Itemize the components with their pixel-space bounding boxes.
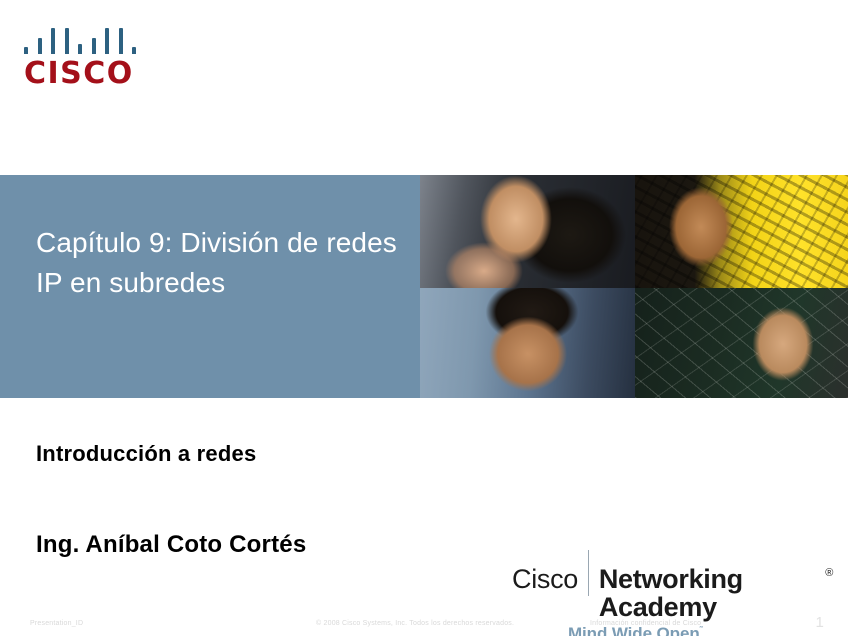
- cisco-bridge-bar-9: [132, 47, 136, 54]
- footer-confidential: Información confidencial de Cisco: [590, 620, 701, 627]
- registered-trademark-mark: ®: [825, 568, 833, 580]
- photo-woman-chalkboard: [635, 288, 848, 398]
- presentation-slide: CISCO Capítulo 9: División de redes IP e…: [0, 0, 848, 636]
- slide-title: Capítulo 9: División de redes IP en subr…: [36, 223, 400, 303]
- cisco-bridge-bar-5: [78, 44, 82, 54]
- photo-man-yellow-wall: [635, 175, 848, 288]
- photo-man-thinking: [420, 175, 635, 288]
- cisco-logo: CISCO: [24, 28, 174, 90]
- footer-presentation-id: Presentation_ID: [30, 620, 83, 627]
- networking-academy-logo: Cisco Networking Academy ® Mind Wide Ope…: [512, 542, 832, 598]
- cisco-bridge-bar-4: [65, 28, 69, 54]
- slide-footer: Presentation_ID © 2008 Cisco Systems, In…: [0, 614, 848, 636]
- cisco-bridge-bar-2: [38, 38, 42, 54]
- cisco-bridge-bar-7: [105, 28, 109, 54]
- footer-copyright: © 2008 Cisco Systems, Inc. Todos los der…: [316, 620, 514, 627]
- photo-man-smiling: [420, 288, 635, 398]
- cisco-bridge-bar-3: [51, 28, 55, 54]
- netacad-divider: [588, 550, 589, 596]
- cisco-bridge-bar-8: [119, 28, 123, 54]
- title-banner: Capítulo 9: División de redes IP en subr…: [0, 175, 420, 398]
- networking-academy-wordmark: Cisco Networking Academy ®: [512, 542, 832, 622]
- presenter-name: Ing. Aníbal Coto Cortés: [36, 531, 306, 559]
- cisco-wordmark: CISCO: [24, 59, 174, 89]
- cisco-bridge-bar-6: [92, 38, 96, 54]
- footer-page-number: 1: [815, 614, 824, 631]
- course-subtitle: Introducción a redes: [36, 441, 256, 467]
- cisco-bridge-bar-1: [24, 47, 28, 54]
- photo-collage: [420, 175, 848, 398]
- cisco-bridge-icon: [24, 28, 136, 54]
- hero-band: Capítulo 9: División de redes IP en subr…: [0, 175, 848, 398]
- netacad-cisco-text: Cisco: [512, 565, 578, 593]
